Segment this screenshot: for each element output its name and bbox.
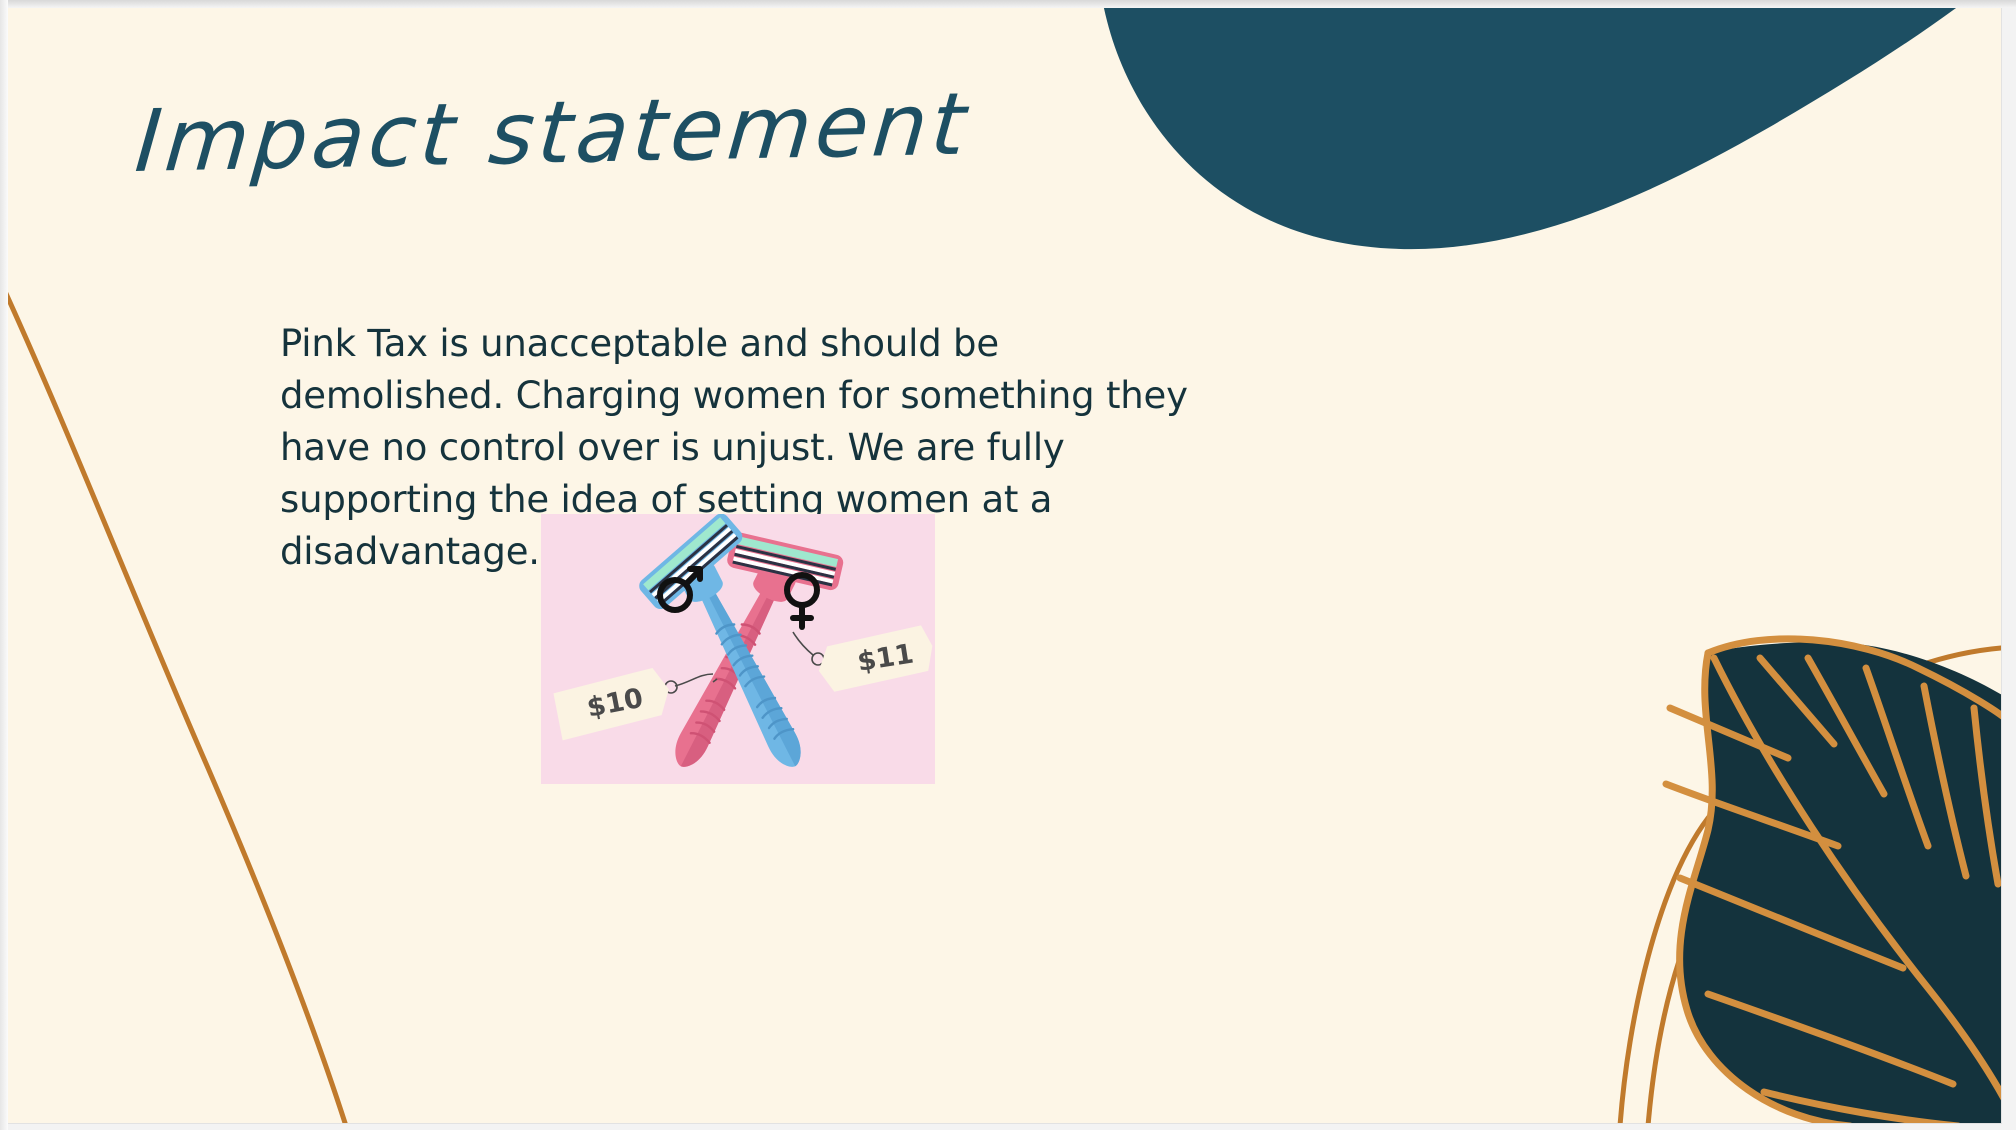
leaf-body — [1681, 642, 2001, 1123]
leaf-outline — [1708, 639, 2001, 720]
orange-curve-right — [1648, 708, 2001, 1123]
leaf-vein-9 — [1708, 994, 1953, 1084]
leaf-vein-4 — [1924, 686, 1966, 876]
leaf-vein-10 — [1764, 1092, 1958, 1123]
leaf-midrib — [1714, 658, 2001, 1104]
teal-blob-shape — [1098, 8, 2001, 249]
leaf-outline-left — [1680, 653, 1850, 1123]
frame-edge-top — [0, 0, 2016, 8]
frame-edge-left — [0, 0, 8, 1130]
slide-title: Impact statement — [132, 75, 974, 192]
razor-comparison-image: $10 $11 — [541, 514, 935, 784]
slide-frame: Impact statement Pink Tax is unacceptabl… — [0, 0, 2016, 1130]
leaf-vein-6 — [1670, 708, 1788, 758]
leaf-vein-2 — [1808, 658, 1884, 794]
leaf-decoration — [1666, 639, 2001, 1123]
razor-illustration: $10 $11 — [541, 514, 935, 784]
leaf-vein-5 — [1974, 708, 1998, 884]
leaf-vein-8 — [1680, 878, 1903, 968]
leaf-vein-3 — [1866, 668, 1928, 846]
leaf-vein-7 — [1666, 784, 1838, 846]
leaf-vein-1 — [1760, 658, 1834, 744]
orange-curve-right-2 — [1620, 648, 2001, 1123]
slide-canvas: Impact statement Pink Tax is unacceptabl… — [8, 8, 2001, 1123]
